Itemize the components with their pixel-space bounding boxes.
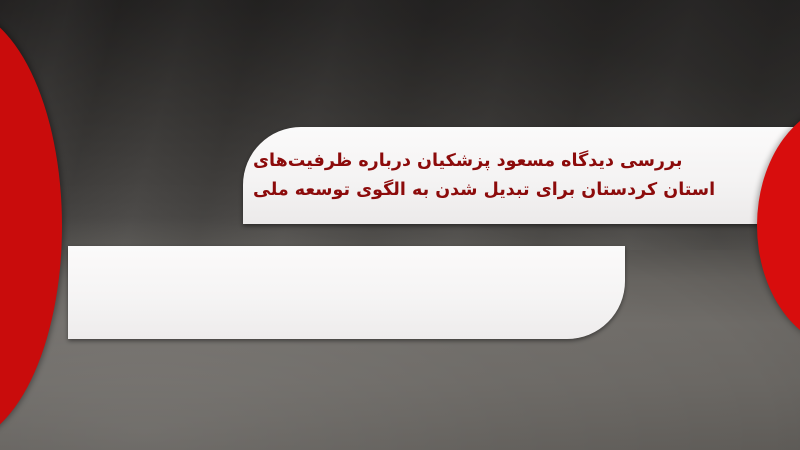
background-arc-pattern xyxy=(0,0,800,450)
slide-canvas: بررسی دیدگاه مسعود پزشکیان درباره ظرفیت‌… xyxy=(0,0,800,450)
white-banner-bottom xyxy=(68,246,625,339)
white-banner-top xyxy=(243,127,800,224)
